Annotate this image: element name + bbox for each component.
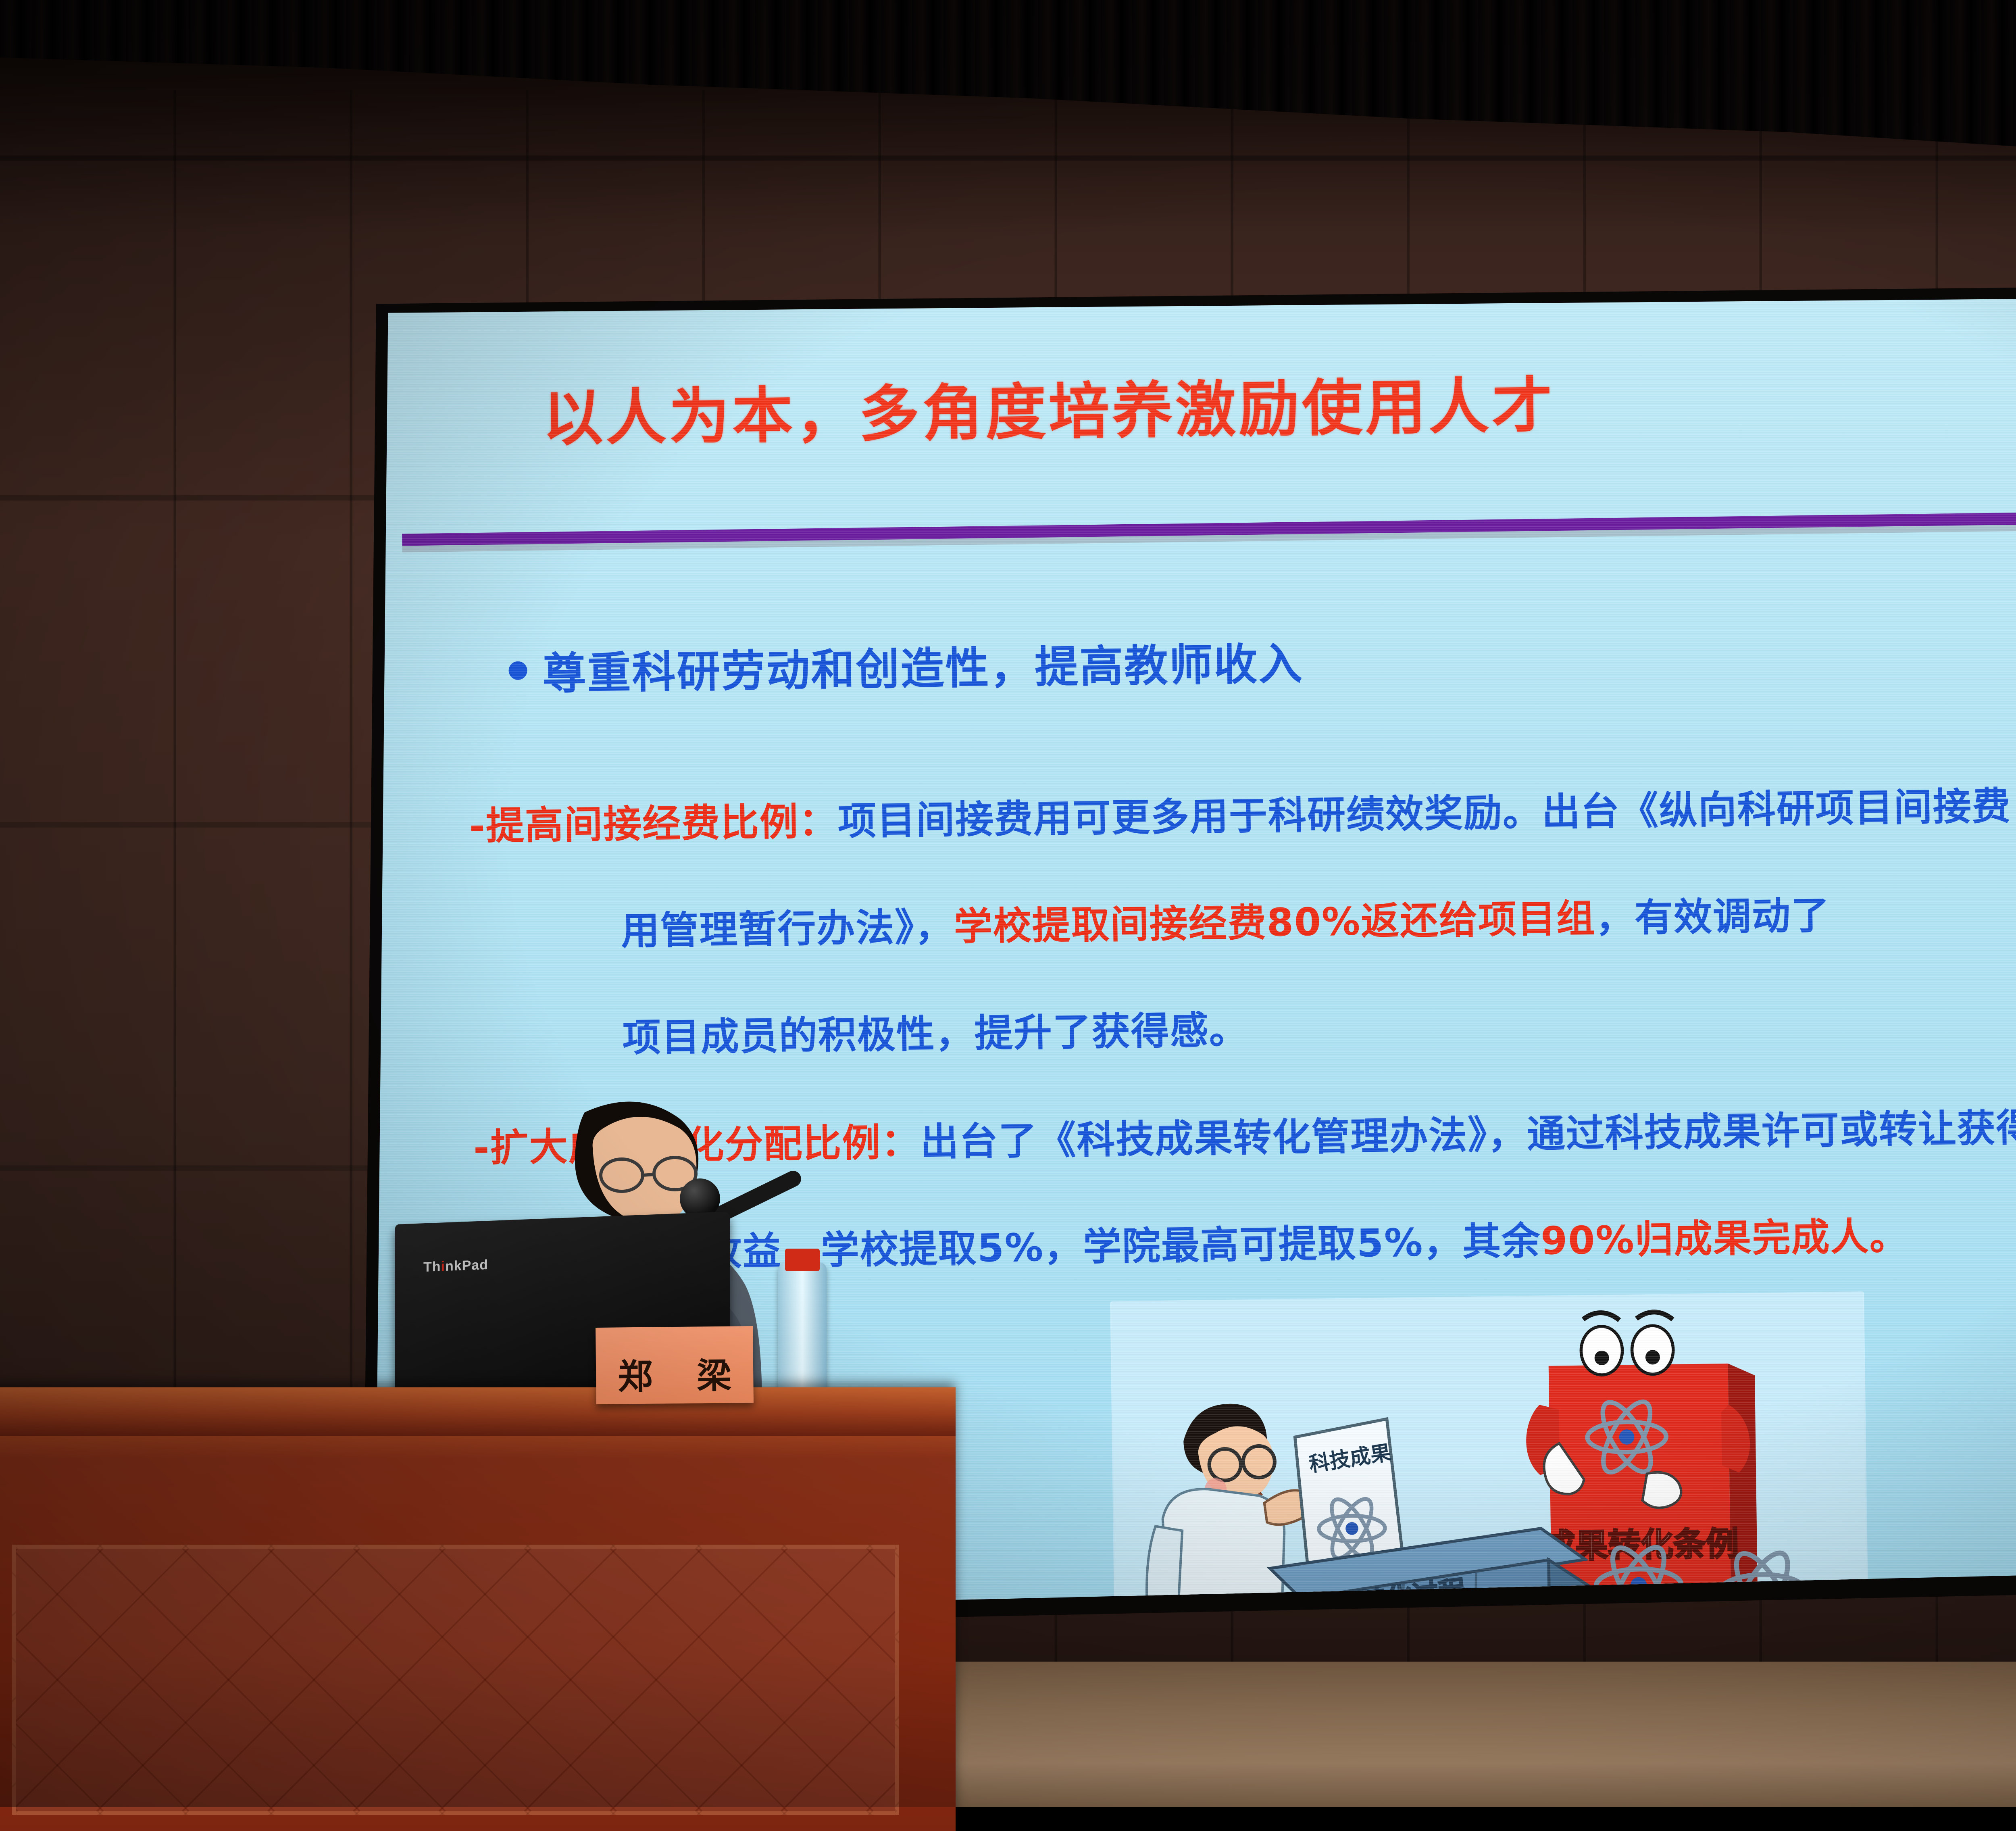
podium-front-panel (12, 1545, 899, 1815)
bottle-cap (785, 1249, 820, 1271)
bullet-marker-icon (508, 661, 527, 680)
thinkpad-dot-icon: i (441, 1259, 445, 1274)
name-plate: 郑 梁 (596, 1326, 754, 1404)
slide-bullet-text: 尊重科研劳动和创造性，提高教师收入 (542, 629, 1304, 702)
slide-bullet-row: 尊重科研劳动和创造性，提高教师收入 (508, 629, 1304, 702)
laptop-brand-label: ThinkPad (423, 1257, 488, 1275)
slide-paragraph-2: 用管理暂行办法》，学校提取间接经费80%返还给项目组，有效调动了 (621, 884, 1830, 955)
technology-transfer-cartoon: 成果转化条例 科技成果 (1110, 1291, 1870, 1613)
slide-title: 以人为本，多角度培养激励使用人才 (542, 357, 1556, 457)
podium-top-surface (0, 1387, 956, 1436)
slide-paragraph-1: -提高间接经费比例：项目间接费用可更多用于科研绩效奖励。出台《纵向科研项目间接费 (469, 775, 2012, 851)
slide-paragraph-3: 项目成员的积极性，提升了获得感。 (622, 999, 1249, 1062)
auditorium-scene: 以人为本，多角度培养激励使用人才 HANGZHOU DIANZI UNIVERS… (0, 0, 2016, 1807)
title-divider-rule (402, 507, 2016, 546)
name-plate-label: 郑 梁 (596, 1347, 754, 1399)
stage-floor (948, 1662, 2016, 1807)
